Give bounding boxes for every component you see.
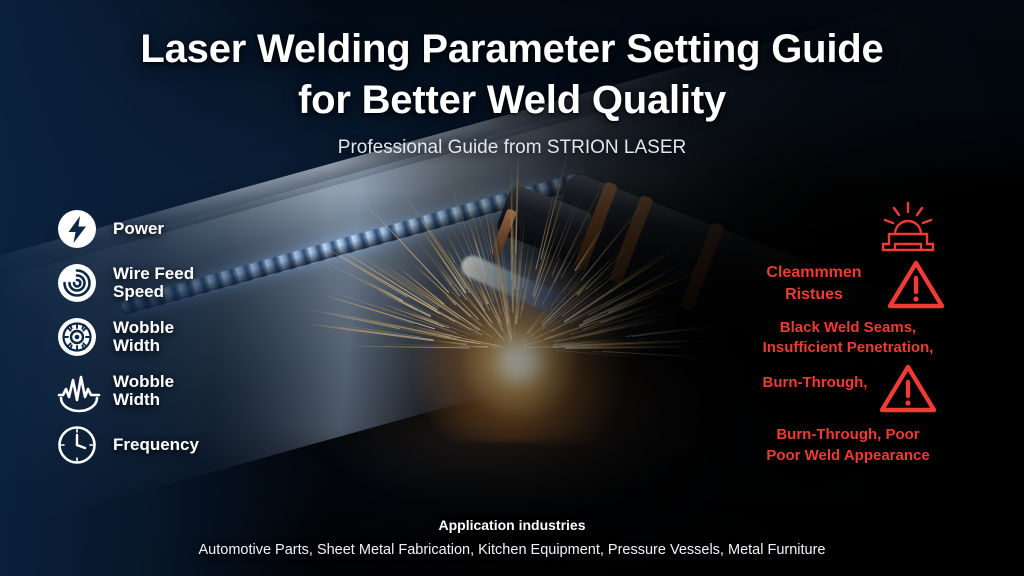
parameter-label: Wobble Width: [113, 373, 174, 410]
alarm-beacon-icon: [876, 200, 940, 261]
warning-triangle-icon: [878, 362, 938, 421]
warning-text-4: Burn-Through, Poor Poor Weld Appearance: [700, 425, 996, 466]
parameter-item-frequency: Frequency: [55, 418, 305, 472]
footer: Application industries Automotive Parts,…: [0, 517, 1024, 558]
waveform-icon: [55, 369, 99, 413]
parameter-label-line1: Wire Feed: [113, 265, 194, 283]
parameter-item-wobble-width-1: Wobble Width: [55, 310, 305, 364]
clock-icon: [55, 423, 99, 467]
parameter-item-wobble-width-2: Wobble Width: [55, 364, 305, 418]
parameter-label-line2: Width: [113, 337, 174, 355]
spiral-coil-icon: [55, 261, 99, 305]
parameter-label-line2: Width: [113, 391, 174, 409]
warning-triangle-icon: [886, 258, 946, 317]
parameter-label-line1: Frequency: [113, 436, 199, 454]
warning-text-2a: Black Weld Seams,: [700, 318, 996, 338]
parameter-label-line2: Speed: [113, 283, 194, 301]
warning-text-3: Burn-Through,: [700, 374, 996, 391]
lightning-bolt-icon: [55, 207, 99, 251]
warning-text-2: Black Weld Seams, Insufficient Penetrati…: [700, 318, 996, 359]
page-title: Laser Welding Parameter Setting Guide fo…: [0, 24, 1024, 126]
parameter-label: Frequency: [113, 436, 199, 454]
footer-industries: Automotive Parts, Sheet Metal Fabricatio…: [0, 542, 1024, 558]
warning-text-4b: Poor Weld Appearance: [700, 446, 996, 467]
warning-text-4a: Burn-Through, Poor: [700, 425, 996, 446]
title-line-1: Laser Welding Parameter Setting Guide: [0, 24, 1024, 75]
parameter-label: Wire Feed Speed: [113, 265, 194, 302]
parameter-label: Wobble Width: [113, 319, 174, 356]
parameter-label-line1: Wobble: [113, 373, 174, 391]
gear-wheel-icon: [55, 315, 99, 359]
footer-title: Application industries: [0, 517, 1024, 533]
parameter-label-line1: Power: [113, 220, 164, 238]
parameter-list: Power Wire Feed Speed: [55, 202, 305, 472]
parameter-label-line1: Wobble: [113, 319, 174, 337]
warning-text-2b: Insufficient Penetration,: [700, 338, 996, 358]
infographic-banner: Laser Welding Parameter Setting Guide fo…: [0, 0, 1024, 576]
page-subtitle: Professional Guide from STRION LASER: [0, 137, 1024, 159]
parameter-item-power: Power: [55, 202, 305, 256]
parameter-label: Power: [113, 220, 164, 238]
title-line-2: for Better Weld Quality: [0, 75, 1024, 126]
parameter-item-wire-feed-speed: Wire Feed Speed: [55, 256, 305, 310]
warning-text-1: Cleammmen Ristues: [700, 262, 996, 305]
